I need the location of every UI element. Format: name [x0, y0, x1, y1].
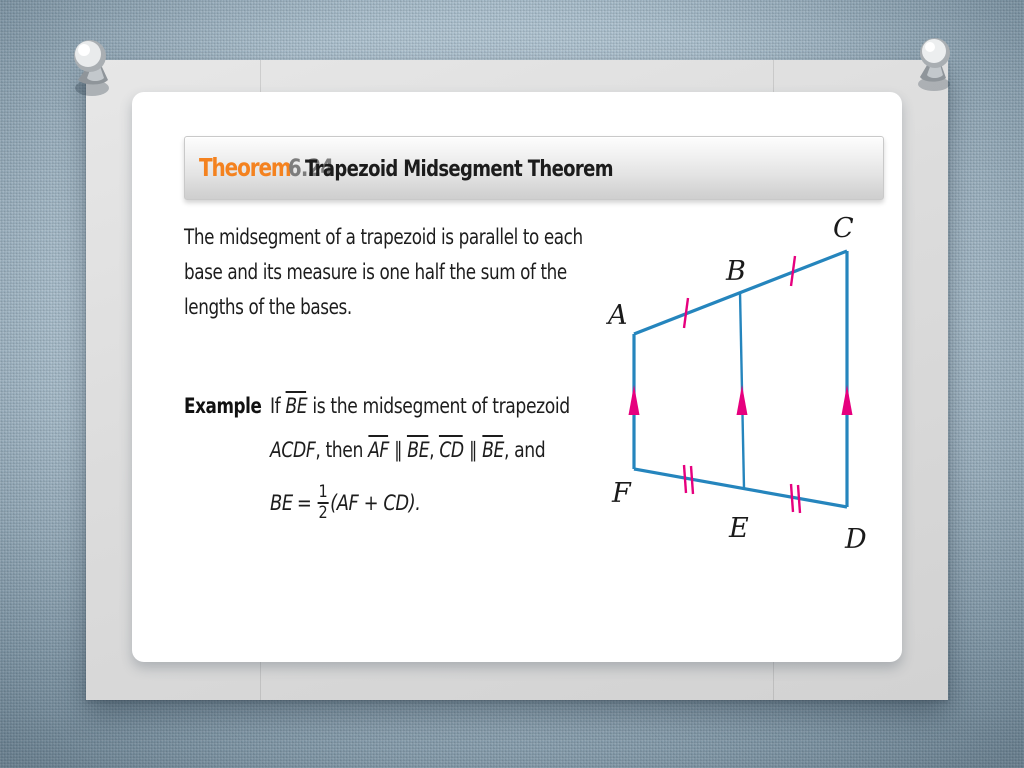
- tick-double-ed-b: [798, 485, 800, 513]
- content-card: Theorem 6.24 Trapezoid Midsegment Theore…: [132, 92, 902, 662]
- trapezoid-figure: A B C D E F: [595, 207, 885, 567]
- tick-double-ed-a: [791, 484, 793, 512]
- segment-cd: CD: [439, 438, 463, 462]
- segment-be-3: BE: [482, 438, 504, 462]
- theorem-word: Theorem: [199, 155, 291, 180]
- vertex-label-f: F: [611, 478, 632, 509]
- segment-af: AF: [368, 438, 389, 462]
- vertex-label-c: C: [833, 213, 854, 244]
- example-line-2: ACDF, then AF ∥ BE, CD ∥ BE, and: [270, 438, 577, 462]
- comma-1: ,: [429, 438, 434, 462]
- theorem-header-inner: Theorem 6.24 Trapezoid Midsegment Theore…: [185, 155, 680, 181]
- segment-be-2: BE: [407, 438, 429, 462]
- trapezoid-outline: [634, 251, 847, 507]
- example-if-word: If: [270, 394, 280, 418]
- parallel-symbol-1: ∥: [394, 438, 402, 462]
- vertex-label-e: E: [728, 513, 749, 544]
- theorem-statement-block: The midsegment of a trapezoid is paralle…: [184, 220, 604, 325]
- push-pin-left-icon: [62, 36, 118, 100]
- tick-double-fe-a: [684, 465, 686, 493]
- theorem-title: Trapezoid Midsegment Theorem: [305, 159, 613, 181]
- example-line-1-text: If BE is the midsegment of trapezoid: [270, 394, 570, 418]
- one-half-fraction: 1 2: [317, 484, 328, 522]
- parallel-arrow-right: [842, 385, 853, 415]
- parallel-arrow-markers: [629, 385, 853, 415]
- parallel-symbol-2: ∥: [469, 438, 477, 462]
- theorem-header-bar: Theorem 6.24 Trapezoid Midsegment Theore…: [184, 136, 884, 200]
- equation-equals: =: [297, 491, 312, 515]
- segment-d-to-f: [634, 469, 847, 507]
- trapezoid-svg: A B C D E F: [595, 207, 885, 567]
- fraction-numerator: 1: [319, 484, 328, 502]
- equation-lhs: BE: [270, 491, 293, 515]
- theorem-statement-text: The midsegment of a trapezoid is paralle…: [184, 220, 600, 325]
- push-pin-right-icon: [908, 34, 964, 98]
- example-label: Example: [184, 394, 267, 418]
- segment-be-1: BE: [285, 394, 307, 418]
- midsegment-equation: BE = 1 2 (AF + CD).: [270, 484, 588, 522]
- example-line-1-suffix: is the midsegment of trapezoid: [312, 394, 569, 418]
- fraction-denominator: 2: [319, 504, 328, 522]
- content-sheet: Theorem 6.24 Trapezoid Midsegment Theore…: [140, 112, 894, 650]
- trapezoid-name: ACDF: [270, 438, 315, 462]
- vertex-label-b: B: [725, 256, 746, 287]
- and-word: , and: [504, 438, 545, 462]
- vertex-label-a: A: [605, 300, 628, 331]
- example-line-1: Example If BE is the midsegment of trape…: [184, 394, 644, 418]
- vertex-label-d: D: [844, 524, 867, 555]
- picture-frame: Theorem 6.24 Trapezoid Midsegment Theore…: [86, 60, 948, 700]
- pin-head-glint-right: [925, 42, 935, 52]
- then-word: , then: [315, 438, 363, 462]
- parallel-arrow-left: [629, 385, 640, 415]
- pin-head-top-right: [922, 39, 946, 63]
- tick-double-fe-b: [691, 466, 693, 494]
- pin-head-glint-left: [78, 44, 90, 56]
- parallel-arrow-middle: [737, 385, 748, 415]
- example-block: Example If BE is the midsegment of trape…: [184, 394, 644, 522]
- equation-rhs: (AF + CD).: [330, 491, 420, 515]
